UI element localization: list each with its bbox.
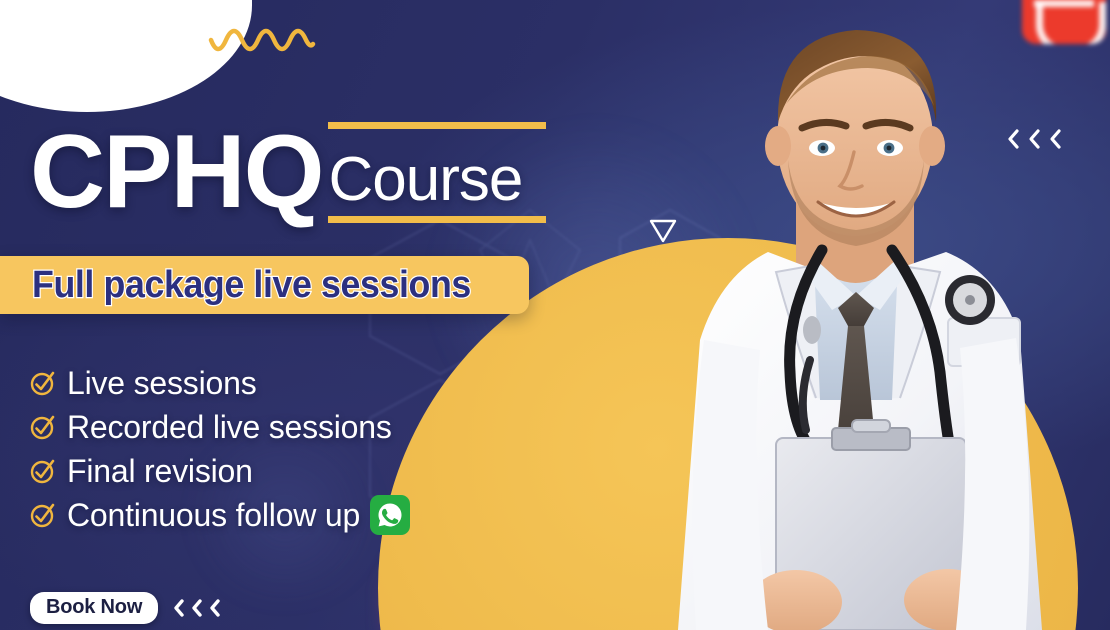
yellow-wave-icon bbox=[208, 28, 316, 60]
chevron-left-icon bbox=[208, 598, 221, 618]
check-circle-icon bbox=[30, 414, 56, 440]
title-rule-bottom bbox=[328, 216, 546, 223]
chevron-left-icon bbox=[1006, 128, 1020, 150]
list-item: Continuous follow up bbox=[30, 496, 410, 534]
red-badge-glyph bbox=[1036, 2, 1106, 44]
list-item: Live sessions bbox=[30, 364, 410, 402]
list-item: Recorded live sessions bbox=[30, 408, 410, 446]
headline-bar: Full package live sessions bbox=[0, 256, 529, 314]
promo-banner: QUALITY LEADERS ACADEMY CPHQ Course Full… bbox=[0, 0, 1110, 630]
whatsapp-icon[interactable] bbox=[370, 495, 410, 535]
feature-label: Final revision bbox=[67, 453, 253, 490]
title-rule-top bbox=[328, 122, 546, 129]
feature-label: Live sessions bbox=[67, 365, 257, 402]
hero-title: CPHQ Course bbox=[30, 113, 524, 217]
feature-label: Continuous follow up bbox=[67, 497, 360, 534]
doctor-photo bbox=[600, 0, 1110, 630]
title-sub: Course bbox=[328, 149, 522, 217]
feature-label: Recorded live sessions bbox=[67, 409, 392, 446]
check-circle-icon bbox=[30, 370, 56, 396]
book-now-button[interactable]: Book Now bbox=[30, 592, 158, 624]
check-circle-icon bbox=[30, 458, 56, 484]
headline-text: Full package live sessions bbox=[32, 264, 471, 307]
chevron-left-icon bbox=[1048, 128, 1062, 150]
list-item: Final revision bbox=[30, 452, 410, 490]
cta-row[interactable]: Book Now bbox=[30, 592, 221, 624]
red-badge-icon bbox=[1022, 0, 1106, 44]
check-circle-icon bbox=[30, 502, 56, 528]
chevron-left-icon bbox=[190, 598, 203, 618]
chevron-left-icon bbox=[1027, 128, 1041, 150]
chevron-left-icon bbox=[172, 598, 185, 618]
feature-list: Live sessions Recorded live sessions Fin… bbox=[30, 364, 410, 534]
title-main: CPHQ bbox=[30, 128, 322, 217]
side-chevrons bbox=[1006, 128, 1062, 150]
cta-chevrons bbox=[172, 598, 221, 618]
down-triangle-icon bbox=[648, 218, 678, 244]
